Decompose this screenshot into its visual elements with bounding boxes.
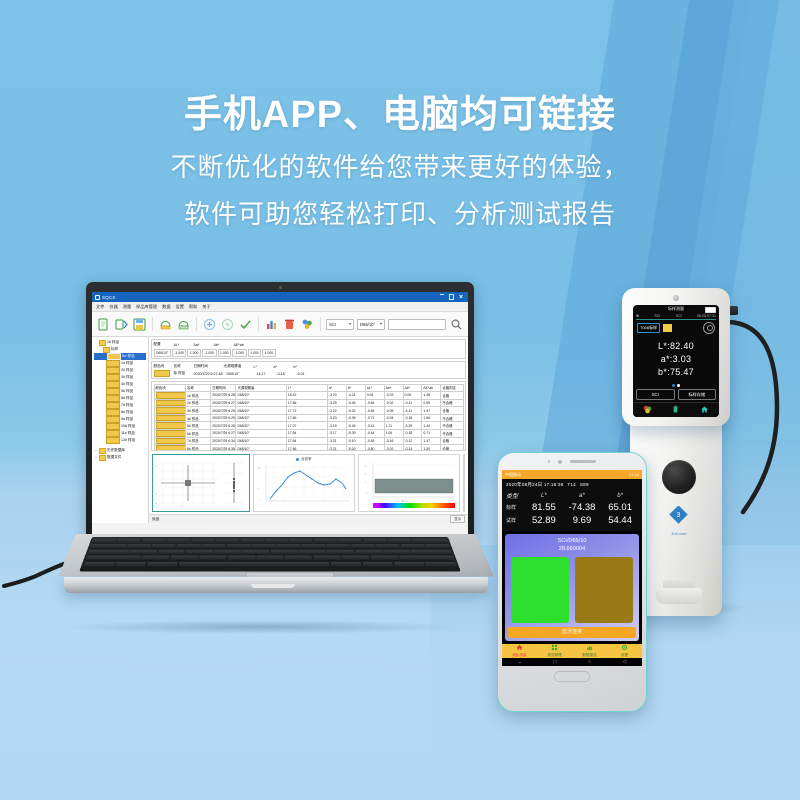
tree-node-child[interactable]: 8# 样品: [94, 409, 146, 416]
cell-db: -0.11: [403, 399, 422, 407]
chevron-down-icon[interactable]: ⌄: [518, 659, 522, 665]
color-swatch: [106, 430, 120, 436]
summary-chip[interactable]: 1.000: [248, 349, 262, 357]
menu-item-about[interactable]: 关于: [202, 304, 210, 310]
delete-icon[interactable]: [282, 317, 297, 332]
phone-status-left: 中国移动: [505, 472, 521, 478]
laptop: SQCX 文件 仪器 测量 样品库管理 数据 设置 帮助 关于: [38, 282, 508, 632]
table-column-header[interactable]: Δb*: [403, 384, 422, 392]
measurement-table[interactable]: 颜色块名称日期时间光源观察者L*a*b*ΔL*Δa*Δb*ΔE*ab合格判定 1…: [154, 384, 464, 452]
cell-datetime: 2020/7/29 6:27:41: [211, 430, 236, 438]
menu-item-data[interactable]: 数据: [162, 304, 170, 310]
std-a: -3.18: [276, 372, 292, 376]
tree-node-child-label: 6# 样品: [121, 396, 133, 401]
tree-expander: +: [94, 449, 98, 453]
color-swatch: [107, 353, 121, 359]
folder-icon: [99, 340, 106, 346]
cell-dL: 0.04: [365, 392, 384, 400]
cell-dL: -0.45: [365, 437, 384, 445]
device-button-save-standard[interactable]: 标样存储: [678, 389, 717, 400]
tree-node-datafile[interactable]: + 数据文件: [94, 454, 146, 461]
nav-item-report[interactable]: 数据报告: [572, 644, 607, 658]
color-swatch: [106, 367, 120, 373]
tree-node-child[interactable]: 11# 样品: [94, 430, 146, 437]
app-titlebar: SQCX: [92, 292, 468, 302]
app-statusbar: 就绪 显示: [149, 514, 468, 523]
summary-chips[interactable]: D65/10°-1.0001.000-1.0001.000-1.0001.000…: [154, 349, 464, 357]
cell-db: -0.18: [403, 414, 422, 422]
table-column-header[interactable]: 合格判定: [441, 384, 463, 392]
search-input[interactable]: [388, 319, 446, 330]
tree-node-group-label: 标样: [111, 347, 118, 352]
chromaticity-scatter-chart[interactable]: 64L* -4-6 a*: [152, 454, 250, 512]
home-icon[interactable]: [700, 401, 709, 417]
cell-pass: 合格: [441, 437, 463, 445]
summary-headers: 配置 ΔL* Δa* Δb* ΔE*ab: [154, 342, 464, 348]
phone-bottom-nav[interactable]: 颜色测量 样品管理 数据报告: [502, 644, 642, 658]
nav-item-measure[interactable]: 颜色测量: [502, 644, 537, 658]
table-column-header[interactable]: 日期时间: [211, 384, 236, 392]
cell-b: -5.39: [346, 430, 365, 438]
tree-node-child-label: 12# 样品: [121, 438, 135, 443]
device-sub-right: 06:25 07:31: [697, 314, 716, 318]
cell-illum: D65/10°: [236, 392, 286, 400]
headline-block: 手机APP、电脑均可链接 不断优化的软件给您带来更好的体验， 软件可助您轻松打印…: [0, 92, 800, 234]
open-icon[interactable]: [114, 317, 129, 332]
spectral-chart-title: 反射率: [254, 456, 354, 461]
phone-table-header-row: 类型 L* a* b*: [506, 490, 638, 501]
standard-row[interactable]: 标 样品 2020/7/29 6:27:48 D65/10° 14.17 -3.…: [154, 371, 464, 377]
cell-da: 1.11: [384, 422, 403, 430]
cell-b: -4.21: [346, 392, 365, 400]
cell-illum: D65/10°: [236, 407, 286, 415]
table-row[interactable]: 7# 样品2020/7/29 6:34:52D65/10°17.64-3.21-…: [154, 437, 463, 445]
table-column-header[interactable]: Δa*: [384, 384, 403, 392]
poster-canvas: 手机APP、电脑均可链接 不断优化的软件给您带来更好的体验， 软件可助您轻松打印…: [0, 0, 800, 800]
row-color-swatch: [154, 422, 186, 430]
phone-row-sample: 试样 52.89 9.69 54.44: [506, 514, 638, 527]
gamut-diagram-chart[interactable]: 标样 试样 642: [463, 454, 465, 512]
cell-illum: D65/10°: [236, 422, 286, 430]
window-controls[interactable]: [440, 294, 466, 300]
phone-record-meta: 2020年08月24日 17:16:38 T14 S89: [506, 482, 638, 488]
svg-text:4: 4: [365, 474, 367, 476]
std-header-6: b*: [294, 365, 310, 369]
phone-system-nav[interactable]: ⌄ □ ○ ◁: [502, 658, 642, 666]
std-header-2: 日期时间: [194, 364, 220, 369]
cell-dE: 1.45: [422, 392, 441, 400]
laptop-base: [38, 534, 508, 604]
home-circle-icon[interactable]: ○: [588, 659, 591, 665]
std-datetime: 2020/7/29 6:27:48: [194, 372, 223, 376]
menu-item-settings[interactable]: 设置: [176, 304, 184, 310]
toolbar-separator-2: [196, 317, 197, 331]
page-dot-active[interactable]: [672, 384, 675, 387]
device-screen: 标样测量 ✽ SCI SCI 06:25 07:31 T006标样 L*:82.…: [633, 305, 719, 417]
cell-L: 17.66: [286, 399, 327, 407]
table-column-header[interactable]: 名称: [186, 384, 211, 392]
color-swatch: [106, 395, 120, 401]
tree-node-selected[interactable]: - B# 样品: [94, 353, 146, 360]
earpiece-speaker: [570, 460, 596, 463]
phone-home-button[interactable]: [554, 671, 590, 682]
summary-chip[interactable]: 1.000: [218, 349, 232, 357]
table-column-header[interactable]: 颜色块: [154, 384, 186, 392]
tree-node-child[interactable]: 6# 样品: [94, 395, 146, 402]
phone-card-mode: SCI/D65/10: [505, 537, 639, 545]
cell-datetime: 2020/7/29 6:29:40: [211, 414, 236, 422]
cell-db: -0.18: [403, 430, 422, 438]
row-color-swatch: [154, 392, 186, 400]
tree-node-root[interactable]: - 1# 样品: [94, 339, 146, 346]
summary-header-3: Δb*: [214, 343, 230, 347]
phone-status-right: 17:16: [629, 472, 639, 477]
mode-select-value: SCI: [329, 322, 336, 327]
summary-header-2: Δa*: [194, 343, 210, 347]
app-toolbar[interactable]: SCI D65/10°: [92, 312, 468, 337]
nav-label-measure: 颜色测量: [512, 653, 526, 657]
cell-a: -3.17: [327, 430, 346, 438]
tree-children: 1# 样品2# 样品3# 样品4# 样品5# 样品6# 样品7# 样品8# 样品…: [94, 360, 146, 444]
device-sub-left: SCI: [654, 314, 660, 318]
tree-node-child-label: 1# 样品: [121, 361, 133, 366]
swatch-standard: [511, 557, 569, 623]
cell-b: -5.32: [346, 407, 365, 415]
swatch-sample: [575, 557, 633, 623]
device-button-sci[interactable]: SCI: [636, 389, 675, 400]
sensor-icon: [548, 460, 551, 463]
phone-earpiece-row: [498, 453, 646, 470]
color-swatch: [106, 388, 120, 394]
cell-da: 1.06: [384, 430, 403, 438]
table-row[interactable]: 6# 样品2020/7/29 6:27:41D65/10°17.64-3.17-…: [154, 430, 463, 438]
phone-row-sample-label: 试样: [506, 514, 526, 527]
folder-icon: [103, 347, 110, 353]
laptop-latch-notch: [251, 584, 295, 588]
cell-db: -0.12: [403, 437, 422, 445]
table-row[interactable]: 4# 样品2020/7/29 6:29:40D65/10°17.66-3.23-…: [154, 414, 463, 422]
row-color-swatch: [154, 430, 186, 438]
cell-illum: D65/10°: [236, 399, 286, 407]
std-header-4: L*: [254, 365, 270, 369]
phone-row-sample-b: 54.44: [602, 514, 638, 527]
headline-subtitle-line1: 不断优化的软件给您带来更好的体验，: [0, 148, 800, 187]
nav-label-settings: 设置: [621, 653, 628, 657]
tree-node-child[interactable]: 9# 样品: [94, 416, 146, 423]
cell-datetime: 2020/7/29 6:34:52: [211, 437, 236, 445]
folder-icon: [99, 448, 106, 454]
cell-db: 0.00: [403, 392, 422, 400]
tree-node-child[interactable]: 3# 样品: [94, 374, 146, 381]
save-icon[interactable]: [132, 317, 147, 332]
svg-text:L*: L*: [155, 484, 157, 486]
device-value-L: L*:82.40: [658, 341, 694, 351]
cell-dE: 1.44: [422, 422, 441, 430]
svg-text:-6: -6: [155, 503, 158, 505]
cell-a: -3.20: [327, 392, 346, 400]
phone-row-sample-L: 52.89: [526, 514, 562, 527]
phone-row-standard-label: 标样: [506, 501, 526, 514]
std-header-3: 光源观察者: [224, 364, 250, 369]
battery-icon: [705, 307, 716, 313]
table-row[interactable]: 2# 样品2020/7/29 6:27:45D65/10°17.66-3.29-…: [154, 399, 463, 407]
device-nav[interactable]: [633, 402, 719, 417]
tree-expander: -: [102, 355, 106, 359]
sample-icon[interactable]: [176, 317, 191, 332]
summary-chip[interactable]: 1.000: [262, 349, 276, 357]
svg-text:0: 0: [366, 493, 368, 495]
cell-datetime: 2020/7/29 6:28:41: [211, 422, 236, 430]
illuminant-select[interactable]: D65/10°: [357, 319, 385, 330]
std-header-1: 名称: [174, 364, 190, 369]
tree-node-child-label: 4# 样品: [121, 382, 133, 387]
std-name: 标 样品: [174, 371, 190, 376]
table-row[interactable]: 3# 样品2020/7/29 6:29:13D65/10°17.72-3.22-…: [154, 407, 463, 415]
phone-header-L: L*: [526, 490, 562, 501]
color-icon[interactable]: [300, 317, 315, 332]
tree-node-child-label: 8# 样品: [121, 410, 133, 415]
cell-dL: -0.45: [365, 407, 384, 415]
tree-expander: +: [94, 456, 98, 460]
cell-db: -4.25: [403, 422, 422, 430]
phone-header-a: a*: [562, 490, 602, 501]
color-swatch: [106, 381, 120, 387]
diamond-logo-icon: 3: [666, 506, 692, 526]
table-column-header[interactable]: 光源观察者: [236, 384, 286, 392]
cell-b: -5.46: [346, 422, 365, 430]
menu-item-help[interactable]: 帮助: [189, 304, 197, 310]
device-value-b: b*:75.47: [658, 367, 694, 377]
nav-label-report: 数据报告: [582, 653, 596, 657]
tree-node-child[interactable]: 7# 样品: [94, 402, 146, 409]
maximize-icon[interactable]: [449, 294, 455, 300]
summary-chip[interactable]: D65/10°: [154, 349, 171, 357]
app-title: SQCX: [102, 295, 440, 300]
cell-dL: -0.54: [365, 399, 384, 407]
nav-item-settings[interactable]: 设置: [607, 644, 642, 658]
device-head: 标样测量 ✽ SCI SCI 06:25 07:31 T006标样 L*:82.…: [622, 288, 730, 426]
menu-item-file[interactable]: 文件: [96, 304, 104, 310]
cell-da: -0.03: [384, 392, 403, 400]
recents-icon[interactable]: □: [553, 659, 556, 665]
tree-node-history-label: 历史数据库: [107, 448, 125, 453]
table-column-header[interactable]: a*: [327, 384, 346, 392]
toolbar-separator-4: [320, 317, 321, 331]
minimize-icon[interactable]: [440, 294, 444, 295]
record-s: S89: [580, 482, 589, 488]
std-L: 14.17: [256, 372, 272, 376]
svg-text:2: 2: [365, 482, 367, 484]
cell-dE: 1.47: [422, 437, 441, 445]
table-row[interactable]: 5# 样品2020/7/29 6:28:41D65/10°17.07-3.19-…: [154, 422, 463, 430]
menu-item-instrument[interactable]: 仪器: [109, 304, 117, 310]
cell-pass: 不合格: [441, 414, 463, 422]
nav-label-samples: 样品管理: [547, 653, 561, 657]
app-main: 配置 ΔL* Δa* Δb* ΔE*ab D65/10°-1.0001.000-…: [149, 337, 468, 523]
color-swatch: [106, 423, 120, 429]
device-screen-header: 标样测量: [633, 305, 719, 313]
add-icon[interactable]: [202, 317, 217, 332]
std-header-5: a*: [274, 365, 290, 369]
device-values: L*:82.40 a*:3.03 b*:75.47: [633, 334, 719, 384]
standard-headers: 颜色块 名称 日期时间 光源观察者 L* a* b*: [154, 364, 464, 370]
cell-illum: D65/10°: [236, 437, 286, 445]
svg-text:16: 16: [258, 468, 261, 470]
cell-name: 4# 样品: [186, 414, 211, 422]
device-base-plate: [656, 588, 702, 604]
sample-tree[interactable]: - 1# 样品 - 标样 - B# 样品: [92, 337, 149, 523]
table-body[interactable]: 1# 样品2020/7/29 6:28:09D65/10°18.42-3.20-…: [154, 392, 463, 451]
chart-icon[interactable]: [264, 317, 279, 332]
cell-datetime: 2020/7/29 6:28:09: [211, 392, 236, 400]
page-dot[interactable]: [677, 384, 680, 387]
std-b: -5.01: [296, 372, 312, 376]
cell-L: 17.72: [286, 407, 327, 415]
tree-node-child[interactable]: 1# 样品: [94, 360, 146, 367]
row-color-swatch: [154, 399, 186, 407]
measure-button[interactable]: [662, 460, 696, 494]
cell-datetime: 2020/7/29 6:27:45: [211, 399, 236, 407]
cell-name: 5# 样品: [186, 422, 211, 430]
close-icon[interactable]: [459, 294, 463, 298]
cell-illum: D65/10°: [236, 430, 286, 438]
tree-node-child[interactable]: 4# 样品: [94, 381, 146, 388]
chevron-down-icon: [349, 323, 351, 325]
measure-icon[interactable]: [220, 317, 235, 332]
color-swatch: [106, 437, 120, 443]
color-swatch: [106, 374, 120, 380]
summary-chip[interactable]: -1.000: [232, 349, 247, 357]
color-swatch: [106, 402, 120, 408]
illuminant-select-value: D65/10°: [360, 322, 375, 327]
app-body: - 1# 样品 - 标样 - B# 样品: [92, 337, 468, 523]
spectral-curve-chart[interactable]: 反射率: [253, 454, 355, 512]
svg-text:-4: -4: [155, 494, 158, 496]
tree-node-datafile-label: 数据文件: [107, 455, 121, 460]
cell-a: -3.21: [327, 437, 346, 445]
phone-row-sample-a: 9.69: [562, 514, 602, 527]
tree-node-child[interactable]: 12# 样品: [94, 437, 146, 444]
phone-measurement-block: 2020年08月24日 17:16:38 T14 S89 类型 L* a* b*…: [502, 479, 642, 531]
new-doc-icon[interactable]: [96, 317, 111, 332]
battery-icon[interactable]: [671, 401, 680, 417]
cell-illum: D65/10°: [236, 414, 286, 422]
summary-chip[interactable]: 1.000: [187, 349, 201, 357]
tree-node-child-label: 9# 样品: [121, 417, 133, 422]
cell-a: -3.22: [327, 407, 346, 415]
search-icon[interactable]: [449, 317, 464, 332]
menu-item-measure[interactable]: 测量: [123, 304, 131, 310]
keyboard[interactable]: [79, 537, 461, 572]
tree-node-child-label: 5# 样品: [121, 389, 133, 394]
summary-header-1: ΔL*: [174, 343, 190, 347]
svg-text:0: 0: [259, 500, 261, 502]
device-value-a: a*:3.03: [661, 354, 692, 364]
laptop-screen: SQCX 文件 仪器 测量 样品库管理 数据 设置 帮助 关于: [92, 292, 468, 535]
front-camera-icon: [558, 460, 562, 464]
table-row[interactable]: 1# 样品2020/7/29 6:28:09D65/10°18.42-3.20-…: [154, 392, 463, 400]
std-illuminant: D65/10°: [226, 372, 252, 376]
row-color-swatch: [154, 437, 186, 445]
nav-item-samples[interactable]: 样品管理: [537, 644, 572, 658]
color-swatch: [106, 360, 120, 366]
cell-L: 17.64: [286, 437, 327, 445]
tree-node-root-label: 1# 样品: [107, 340, 119, 345]
std-swatch: [154, 370, 170, 377]
device-sub-mid: SCI: [676, 314, 682, 318]
cell-pass: 不合格: [441, 399, 463, 407]
table-header-row: 颜色块名称日期时间光源观察者L*a*b*ΔL*Δa*Δb*ΔE*ab合格判定: [154, 384, 463, 392]
bar-strip-chart[interactable]: 6420 波长 nm: [358, 454, 460, 512]
table-column-header[interactable]: ΔE*ab: [422, 384, 441, 392]
toolbar-separator-1: [152, 317, 153, 331]
device-tag-row[interactable]: T006标样: [633, 322, 719, 334]
mode-select[interactable]: SCI: [326, 319, 354, 330]
cell-L: 18.42: [286, 392, 327, 400]
measurement-table-panel: 颜色块名称日期时间光源观察者L*a*b*ΔL*Δa*Δb*ΔE*ab合格判定 1…: [151, 381, 466, 451]
cell-a: -3.23: [327, 414, 346, 422]
phone-comparison-card: SCI/D65/10 28.660004 蓝牙连接: [505, 534, 639, 641]
phone-statusbar: 中国移动 17:16: [502, 470, 642, 479]
table-column-header[interactable]: ΔL*: [365, 384, 384, 392]
phone-row-standard-a: -74.38: [562, 501, 602, 514]
phone-swatches: [505, 554, 639, 627]
tree-node-child[interactable]: 10# 样品: [94, 423, 146, 430]
summary-chip[interactable]: -1.000: [202, 349, 217, 357]
cell-a: -3.29: [327, 399, 346, 407]
svg-text:6: 6: [155, 466, 157, 468]
svg-text:4: 4: [155, 476, 157, 478]
summary-header-0: 配置: [154, 342, 170, 347]
cell-dE: 0.55: [422, 399, 441, 407]
phone-type-label: 类型: [506, 490, 526, 501]
cell-pass: 合格: [441, 407, 463, 415]
tree-node-child[interactable]: 5# 样品: [94, 388, 146, 395]
cell-L: 17.66: [286, 414, 327, 422]
svg-text:6: 6: [365, 466, 367, 468]
sample-tag[interactable]: T006标样: [637, 323, 660, 333]
indicator-led-icon: [673, 295, 679, 301]
table-column-header[interactable]: b*: [346, 384, 365, 392]
menu-item-sample-library[interactable]: 样品库管理: [136, 304, 157, 310]
standard-icon[interactable]: [158, 317, 173, 332]
phone-card-delta-e: 28.660004: [505, 545, 639, 553]
phone-screen: 中国移动 17:16 2020年08月24日 17:16:38 T14 S89 …: [502, 470, 642, 666]
tree-node-history[interactable]: + 历史数据库: [94, 447, 146, 454]
statusbar-button[interactable]: 显示: [450, 515, 465, 523]
row-color-swatch: [154, 414, 186, 422]
device-screen-title: 标样测量: [668, 306, 684, 312]
cell-name: 7# 样品: [186, 437, 211, 445]
color-icon[interactable]: [643, 401, 652, 417]
cell-da: -0.05: [384, 407, 403, 415]
back-icon[interactable]: ◁: [622, 659, 626, 665]
summary-chip[interactable]: -1.000: [172, 349, 187, 357]
check-icon[interactable]: [238, 317, 253, 332]
cell-name: 2# 样品: [186, 399, 211, 407]
tree-node-child[interactable]: 2# 样品: [94, 367, 146, 374]
svg-text:a*: a*: [181, 506, 183, 508]
headline-title: 手机APP、电脑均可链接: [0, 92, 800, 140]
gear-icon[interactable]: [703, 322, 715, 334]
tree-node-group[interactable]: - 标样: [94, 346, 146, 353]
table-column-header[interactable]: L*: [286, 384, 327, 392]
phone-values-table: 类型 L* a* b* 标样 81.55 -74.38 65.01 试样 52.…: [506, 490, 638, 527]
cell-name: 3# 样品: [186, 407, 211, 415]
bluetooth-connect-button[interactable]: 蓝牙连接: [508, 627, 636, 638]
phone-row-standard-b: 65.01: [602, 501, 638, 514]
app-menubar[interactable]: 文件 仪器 测量 样品库管理 数据 设置 帮助 关于: [92, 302, 468, 312]
